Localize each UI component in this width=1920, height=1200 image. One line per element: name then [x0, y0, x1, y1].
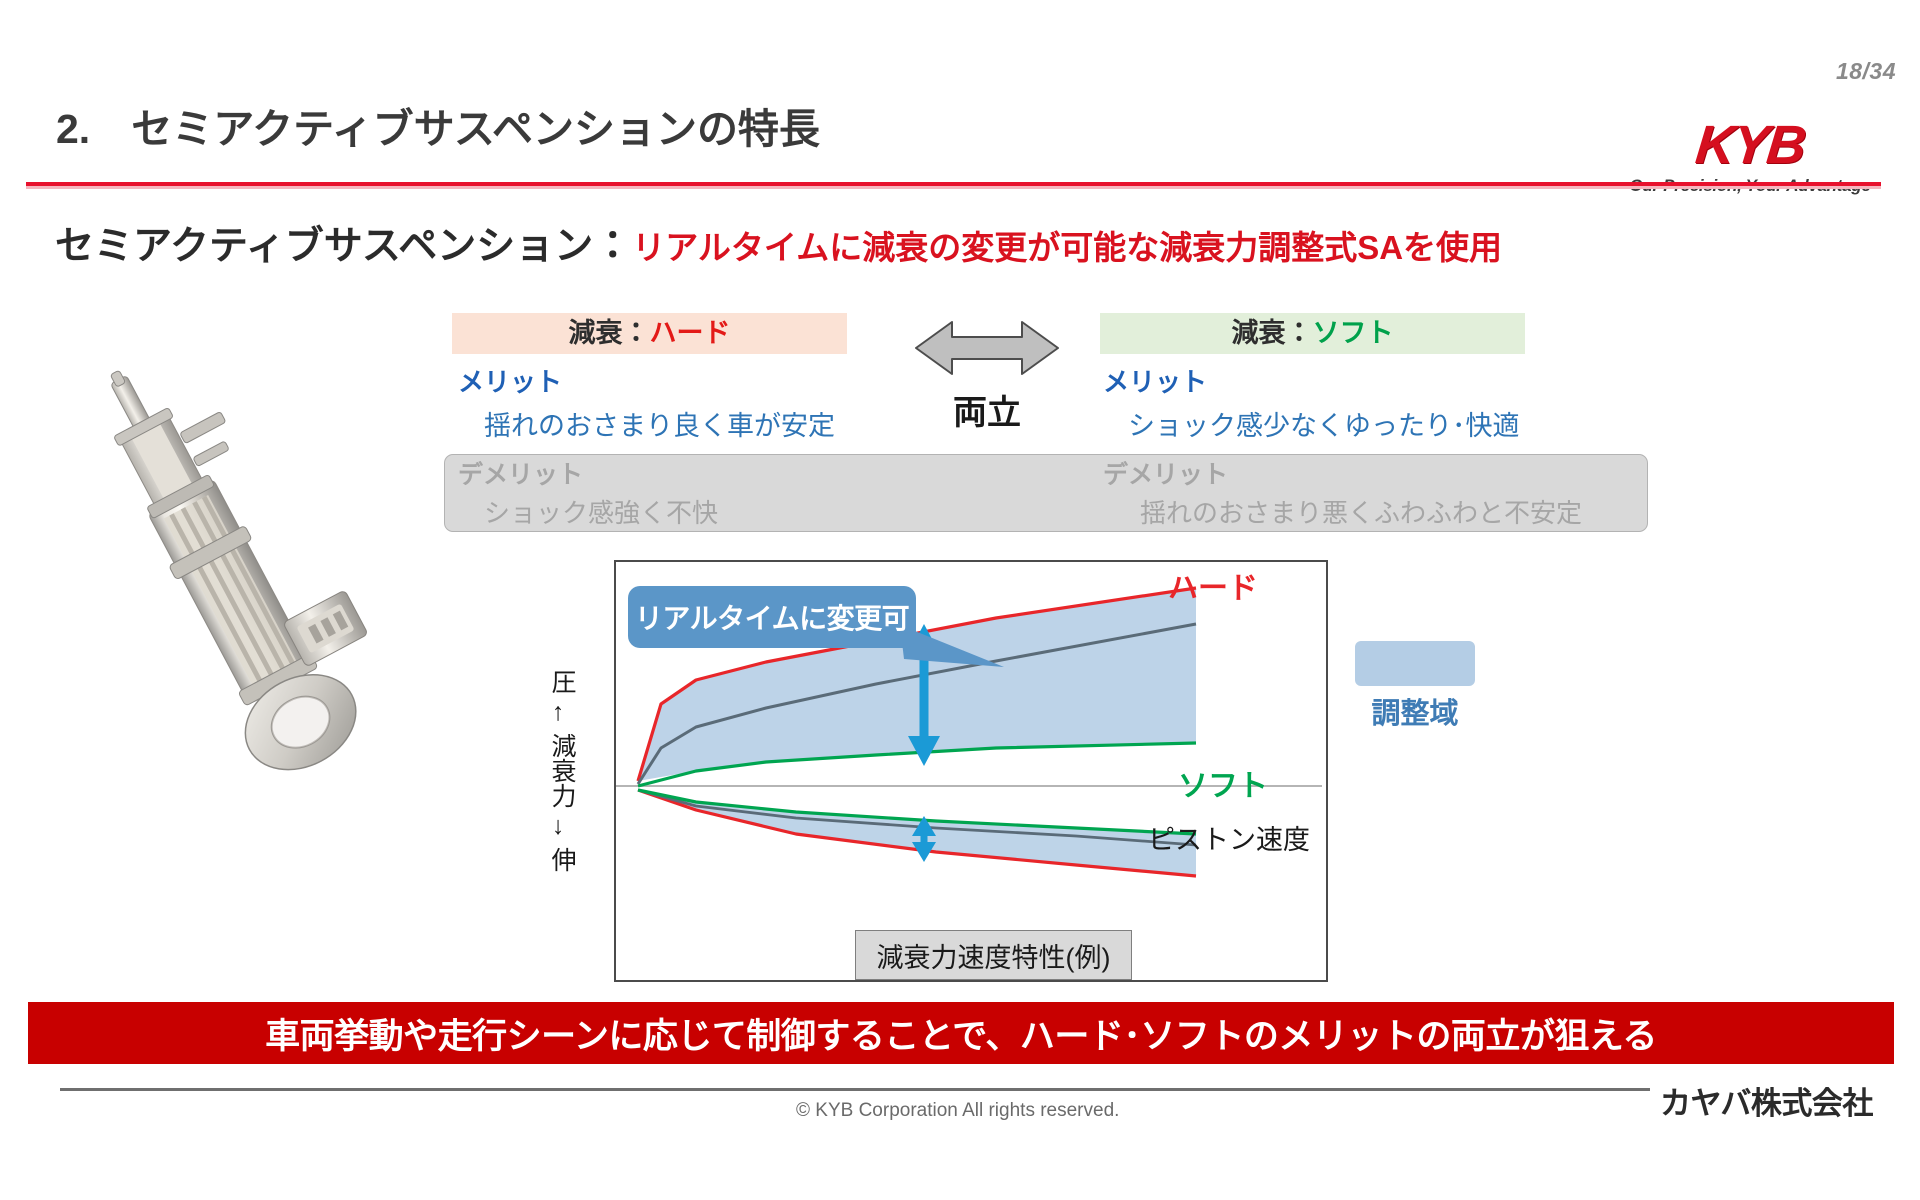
- footer-divider: [60, 1088, 1650, 1091]
- damping-hard-header: 減衰：ハード: [452, 313, 847, 354]
- strut-photo: [70, 345, 380, 815]
- hard-merit-label: メリット: [458, 362, 562, 399]
- chart-label-soft: ソフト: [1178, 761, 1268, 805]
- chart-caption: 減衰力速度特性(例): [855, 930, 1132, 980]
- realtime-callout: リアルタイムに変更可: [628, 586, 916, 648]
- kyb-logo-tagline: Our Precision, Your Advantage: [1625, 176, 1875, 196]
- damping-hard-value: ハード: [650, 318, 731, 348]
- slide-canvas: 18/34 KYB Our Precision, Your Advantage …: [0, 0, 1920, 1200]
- double-arrow-icon: [912, 318, 1062, 378]
- summary-banner: 車両挙動や走行シーンに応じて制御することで、ハード･ソフトのメリットの両立が狙え…: [28, 1002, 1894, 1064]
- soft-demerit-text: 揺れのおさまり悪くふわふわと不安定: [1140, 493, 1582, 530]
- footer-copyright: © KYB Corporation All rights reserved.: [796, 1100, 1119, 1122]
- chart-label-hard: ハード: [1168, 563, 1258, 607]
- page-title: 2. セミアクティブサスペンションの特長: [56, 95, 820, 155]
- soft-demerit-label: デメリット: [1103, 455, 1228, 491]
- damping-hard-prefix: 減衰：: [569, 318, 650, 348]
- footer-company-name: カヤバ株式会社: [1660, 1078, 1873, 1123]
- damping-soft-header: 減衰：ソフト: [1100, 313, 1525, 354]
- both-achieve-label: 両立: [912, 385, 1062, 434]
- subtitle-highlight: リアルタイムに減衰の変更が可能な減衰力調整式SAを使用: [632, 229, 1502, 266]
- hard-demerit-text: ショック感強く不快: [484, 493, 718, 530]
- hard-demerit-label: デメリット: [458, 455, 583, 491]
- damping-soft-prefix: 減衰：: [1232, 318, 1313, 348]
- page-number: 18/34: [1836, 58, 1896, 85]
- subtitle: セミアクティブサスペンション：リアルタイムに減衰の変更が可能な減衰力調整式SAを…: [55, 215, 1502, 271]
- kyb-logo-mark: KYB: [1622, 118, 1878, 172]
- chart-y-axis-label: 圧 ← 減衰力 → 伸: [540, 625, 584, 915]
- soft-merit-text: ショック感少なくゆったり･快適: [1128, 404, 1520, 443]
- hard-merit-text: 揺れのおさまり良く車が安定: [484, 404, 835, 443]
- legend-label-adjustable-range: 調整域: [1355, 690, 1475, 732]
- legend-swatch-adjustable-range: [1355, 641, 1475, 686]
- callout-pointer-icon: [900, 625, 1020, 685]
- chart-x-axis-label: ピストン速度: [1148, 818, 1310, 857]
- title-divider: [26, 182, 1881, 186]
- subtitle-main: セミアクティブサスペンション：: [55, 225, 632, 268]
- soft-merit-label: メリット: [1103, 362, 1207, 399]
- damping-soft-value: ソフト: [1313, 318, 1394, 348]
